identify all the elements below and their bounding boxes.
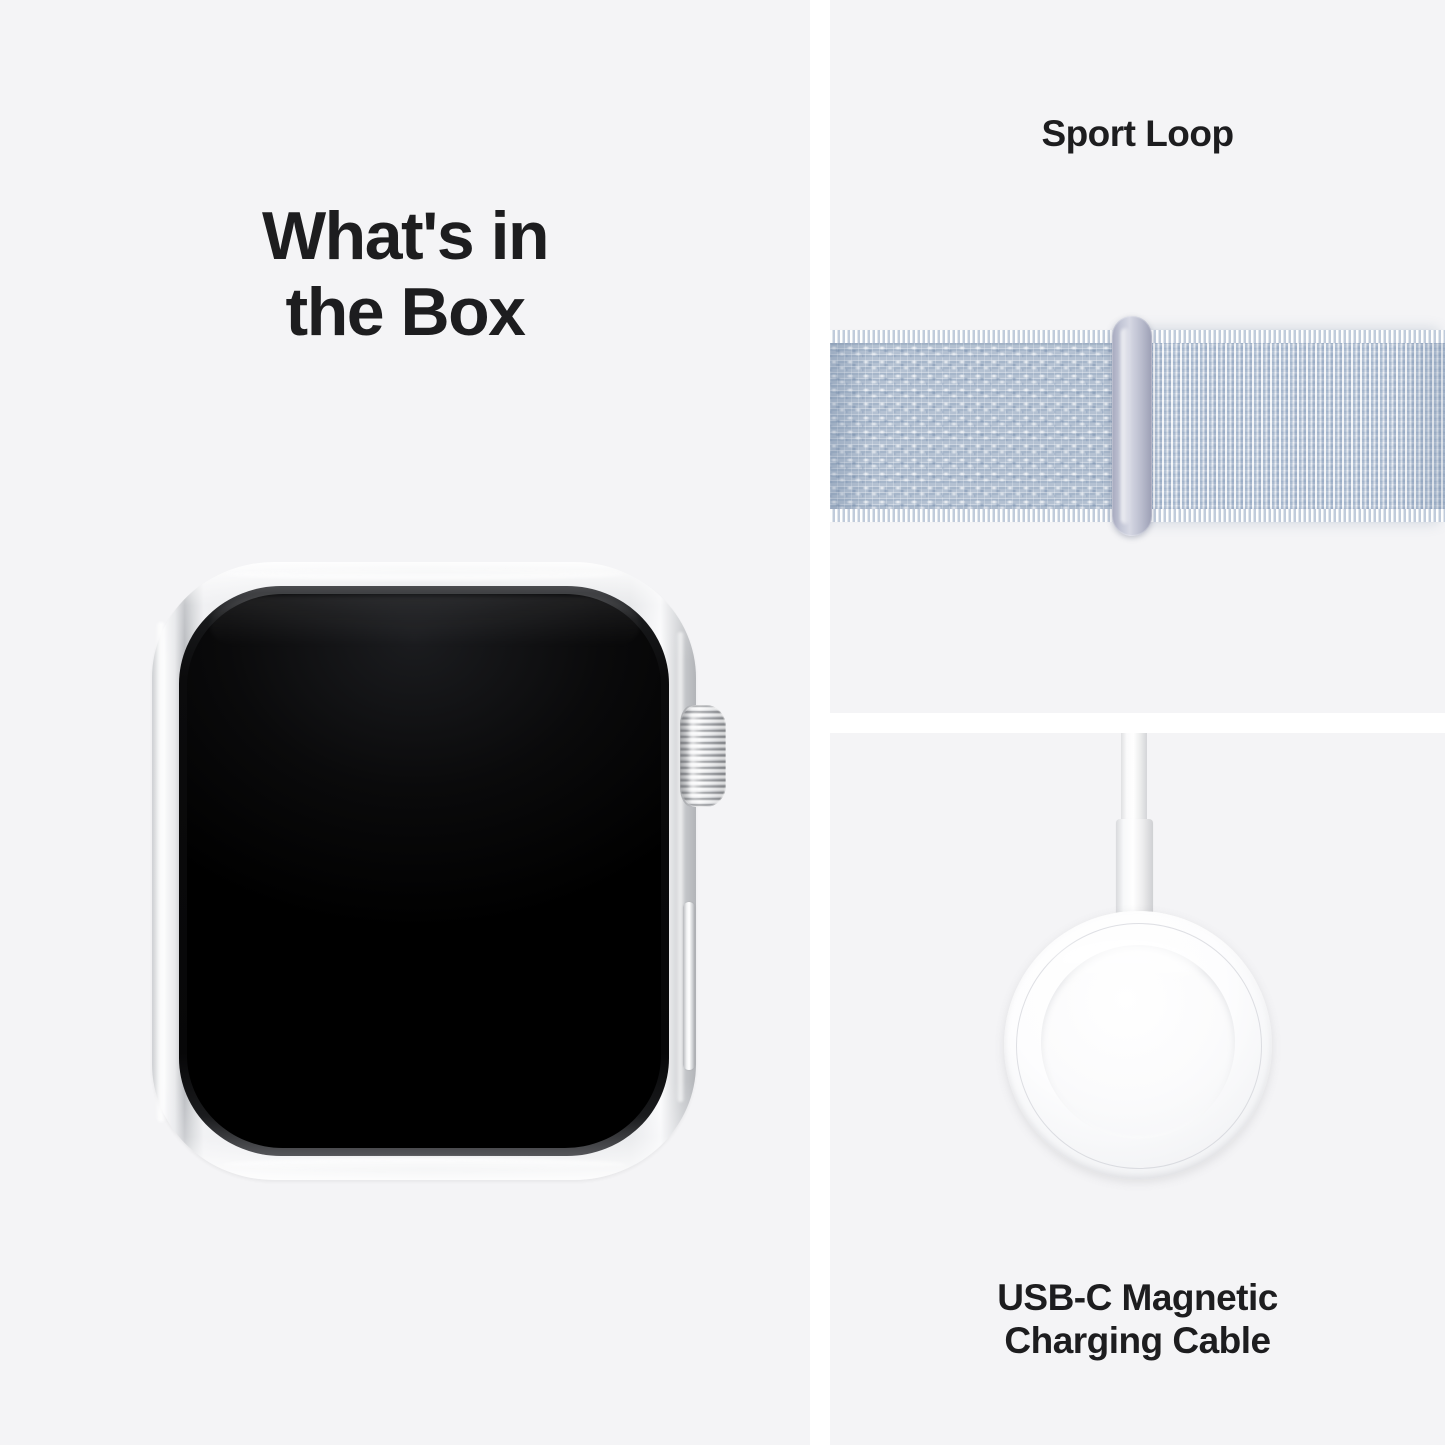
digital-crown-highlight (690, 713, 702, 799)
charging-cable-label: USB-C Magnetic Charging Cable (830, 1276, 1445, 1363)
watch-case-bottom-rim (222, 1158, 626, 1171)
sport-loop-weave-texture (830, 330, 1140, 522)
sport-loop-image (830, 330, 1445, 522)
sport-loop-label: Sport Loop (830, 113, 1445, 155)
digital-crown-icon (680, 705, 726, 807)
sport-loop-upper-strap (1126, 330, 1445, 522)
sport-loop-lower-strap (830, 330, 1140, 522)
charging-puck-highlight (1052, 939, 1202, 991)
watch-case-left-highlight (155, 622, 167, 1122)
charging-cable-cord (1121, 733, 1147, 825)
panel-charging-cable: USB-C Magnetic Charging Cable (830, 733, 1445, 1445)
sport-loop-top-binding (830, 330, 1140, 343)
sport-loop-upper-top-binding (1126, 330, 1445, 343)
charging-cable-strain-relief (1116, 819, 1153, 925)
apple-watch-image (152, 562, 696, 1180)
sport-loop-bottom-binding (830, 509, 1140, 522)
watch-display (187, 594, 661, 1148)
page-title: What's in the Box (0, 198, 810, 352)
sport-loop-keeper (1112, 316, 1152, 536)
watch-display-glare (210, 596, 640, 656)
panel-sport-loop: Sport Loop (830, 0, 1445, 713)
sport-loop-upper-bottom-binding (1126, 509, 1445, 522)
panel-whats-in-the-box: What's in the Box (0, 0, 810, 1445)
watch-case-top-rim (224, 568, 624, 580)
side-button (683, 902, 695, 1070)
sport-loop-left-shading (830, 330, 870, 522)
sport-loop-keeper-highlight (1121, 328, 1130, 524)
sport-loop-ribbed-texture (1126, 330, 1445, 522)
sport-loop-right-shading (1399, 330, 1445, 522)
product-image-canvas: What's in the Box Sport Loop (0, 0, 1445, 1445)
